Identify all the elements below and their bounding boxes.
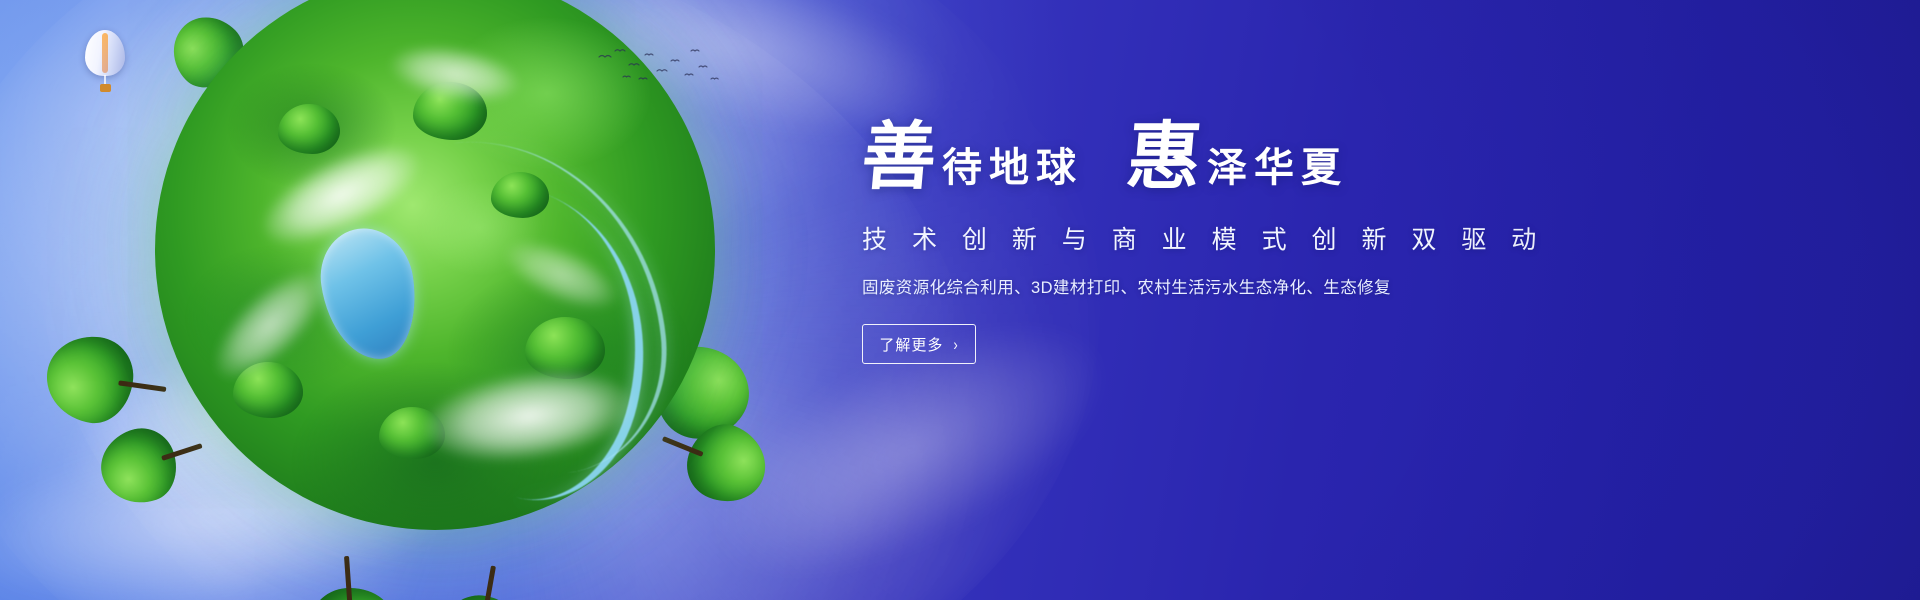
hot-air-balloon-icon — [85, 30, 125, 92]
hero-content: 善 待地球 惠 泽华夏 技 术 创 新 与 商 业 模 式 创 新 双 驱 动 … — [862, 120, 1562, 364]
birds-icon — [595, 45, 725, 90]
tree-icon — [305, 553, 397, 600]
learn-more-label: 了解更多 — [879, 334, 943, 355]
headline-calligraphy-shan: 善 — [859, 120, 945, 194]
hero-description: 固废资源化综合利用、3D建材打印、农村生活污水生态净化、生态修复 — [862, 274, 1562, 298]
bush-icon — [525, 317, 605, 379]
hero-subtitle: 技 术 创 新 与 商 业 模 式 创 新 双 驱 动 — [862, 220, 1562, 256]
chevron-right-icon: › — [953, 335, 958, 354]
headline-rest-daidiqiu: 待地球 — [942, 148, 1083, 194]
learn-more-button[interactable]: 了解更多 › — [862, 324, 976, 364]
bush-icon — [491, 172, 549, 218]
tree-icon — [41, 331, 172, 433]
headline-calligraphy-hui: 惠 — [1124, 120, 1210, 194]
hero-banner: 善 待地球 惠 泽华夏 技 术 创 新 与 商 业 模 式 创 新 双 驱 动 … — [0, 0, 1920, 600]
bush-icon — [278, 104, 340, 154]
page-title: 善 待地球 惠 泽华夏 — [862, 120, 1562, 194]
headline-rest-zehuaxia: 泽华夏 — [1207, 148, 1348, 194]
